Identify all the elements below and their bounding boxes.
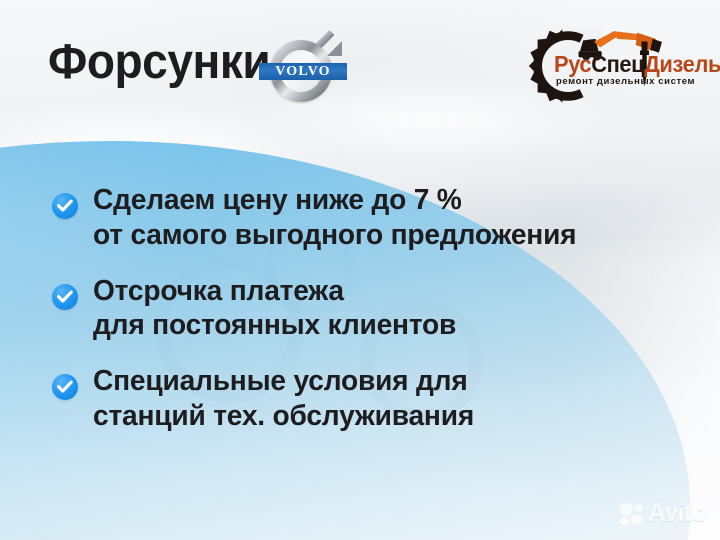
benefit-line-2: от самого выгодного предложения (93, 218, 576, 253)
volvo-logo: VOLVO (259, 40, 347, 102)
benefits-list: Сделаем цену ниже до 7 % от самого выгод… (52, 183, 652, 455)
list-item: Сделаем цену ниже до 7 % от самого выгод… (52, 183, 652, 253)
volvo-wordmark-band: VOLVO (259, 63, 347, 80)
check-circle-icon (52, 374, 78, 400)
avito-watermark: Avito (619, 499, 706, 528)
company-logo-name-part-2: Спец (591, 51, 644, 77)
company-logo-tagline: ремонт дизельных систем (556, 76, 695, 87)
benefit-text: Отсрочка платежа для постоянных клиентов (93, 274, 456, 344)
benefit-line-1: Специальные условия для (93, 365, 468, 397)
advertisement-banner: Форсунки VOLVO (0, 0, 720, 540)
company-logo-name-part-3: Дизель (644, 51, 720, 77)
benefit-line-2: для постоянных клиентов (93, 308, 456, 343)
benefit-line-1: Сделаем цену ниже до 7 % (93, 184, 462, 216)
check-circle-icon (52, 284, 78, 310)
avito-dots-icon (619, 502, 645, 526)
company-logo-name: РусСпецДизель (554, 51, 720, 78)
benefit-text: Специальные условия для станций тех. обс… (93, 364, 474, 434)
volvo-wordmark: VOLVO (275, 64, 331, 80)
company-logo-name-part-1: Рус (554, 51, 591, 77)
check-circle-icon (52, 193, 78, 219)
benefit-line-1: Отсрочка платежа (93, 275, 344, 307)
company-logo: РусСпецДизель ремонт дизельных систем (516, 22, 702, 110)
benefit-text: Сделаем цену ниже до 7 % от самого выгод… (93, 183, 576, 253)
avito-wordmark: Avito (648, 499, 706, 528)
benefit-line-2: станций тех. обслуживания (93, 399, 474, 434)
volvo-arrow-head-icon (327, 41, 342, 56)
list-item: Отсрочка платежа для постоянных клиентов (52, 274, 652, 344)
list-item: Специальные условия для станций тех. обс… (52, 364, 652, 434)
page-title: Форсунки (48, 38, 270, 87)
